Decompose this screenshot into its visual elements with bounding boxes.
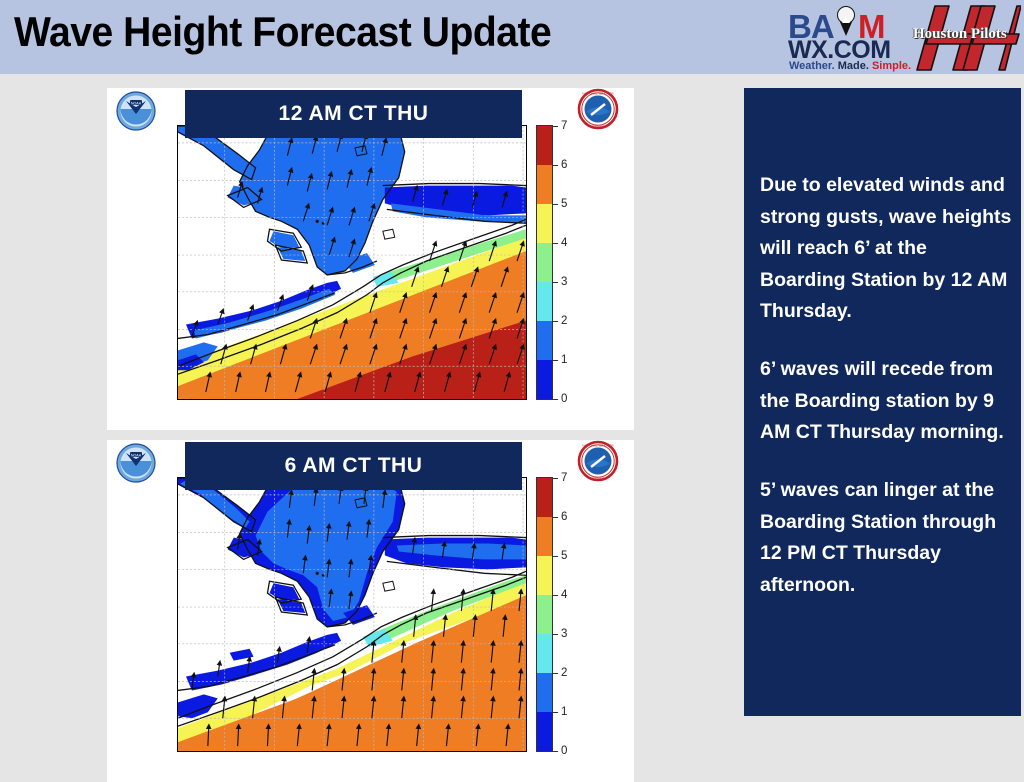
colorbar-tick-label: 0 — [561, 393, 567, 405]
forecast-note-paragraph-3: 5’ waves can linger at the Boarding Stat… — [760, 475, 1012, 601]
colorbar-band-6-7 — [537, 478, 552, 517]
colorbar-tick-label: 6 — [561, 159, 567, 171]
colorbar-band-4-5 — [537, 204, 552, 243]
wave-height-field-12am — [178, 126, 526, 399]
houston-pilots-label: Houston Pilots — [913, 26, 1007, 43]
colorbar-band-6-7 — [537, 126, 552, 165]
colorbar-tick-label: 3 — [561, 276, 567, 288]
forecast-note-paragraph-2: 6’ waves will recede from the Boarding s… — [760, 354, 1012, 449]
svg-text:NOAA: NOAA — [131, 453, 142, 457]
colorbar-tick-label: 7 — [561, 120, 567, 132]
colorbar-band-1-2 — [537, 321, 552, 360]
colorbar-tick-label: 2 — [561, 315, 567, 327]
colorbar-tick-label: 5 — [561, 550, 567, 562]
map-title-banner-12am: 12 AM CT THU — [185, 90, 522, 138]
map-axes-6am: 29.7°N 29.6°N 29.5°N 29.4°N 29.3°N 29.2°… — [177, 477, 527, 752]
svg-text:NATIONAL WEATHER: NATIONAL WEATHER — [582, 92, 614, 96]
baseball-icon — [833, 6, 859, 36]
colorbar-tick-label: 4 — [561, 589, 567, 601]
bamwx-wordmark-row: BA M — [786, 6, 911, 40]
wave-height-map-6am: NWP on NOAA NATIONAL WEATHER SERVICE 6 A… — [107, 440, 634, 782]
wave-height-map-12am: NWP on NOAA NATIONAL WEATHER SERVICE 12 … — [107, 88, 634, 430]
colorbar-band-5-6 — [537, 517, 552, 556]
bamwx-logo: BA M WX.COM Weather. Made. Simple. — [786, 6, 911, 72]
tagline-weather: Weather. — [789, 60, 835, 72]
colorbar-band-2-3 — [537, 634, 552, 673]
colorbar-band-2-3 — [537, 282, 552, 321]
forecast-note-paragraph-1: Due to elevated winds and strong gusts, … — [760, 170, 1012, 328]
forecast-notes-text: Due to elevated winds and strong gusts, … — [760, 170, 1012, 628]
colorbar-tick-label: 1 — [561, 354, 567, 366]
colorbar-6am: 7 6 5 4 3 2 1 0 — [536, 477, 553, 752]
page-header: Wave Height Forecast Update BA M WX.COM … — [0, 0, 1024, 74]
colorbar-tick-label: 7 — [561, 472, 567, 484]
colorbar-band-3-4 — [537, 595, 552, 634]
page-title: Wave Height Forecast Update — [14, 8, 551, 56]
colorbar-tick-label: 4 — [561, 237, 567, 249]
colorbar-band-3-4 — [537, 243, 552, 282]
colorbar-tick-label: 5 — [561, 198, 567, 210]
colorbar-band-0-1 — [537, 712, 552, 751]
colorbar-tick-label: 2 — [561, 667, 567, 679]
colorbar-band-5-6 — [537, 165, 552, 204]
colorbar-tick-label: 1 — [561, 706, 567, 718]
forecast-notes-panel: Due to elevated winds and strong gusts, … — [744, 88, 1021, 716]
noaa-logo-icon: NOAA — [115, 442, 157, 484]
colorbar-tick-label: 0 — [561, 745, 567, 757]
tagline-made: Made. — [838, 60, 869, 72]
map-title-banner-6am: 6 AM CT THU — [185, 442, 522, 490]
houston-pilots-logo: Houston Pilots — [905, 2, 1021, 74]
colorbar-band-4-5 — [537, 556, 552, 595]
nws-logo-icon: NATIONAL WEATHER SERVICE — [577, 440, 619, 482]
svg-text:SERVICE: SERVICE — [591, 124, 605, 128]
colorbar-band-0-1 — [537, 360, 552, 399]
colorbar-tick-label: 6 — [561, 511, 567, 523]
svg-text:NOAA: NOAA — [131, 101, 142, 105]
svg-text:SERVICE: SERVICE — [591, 476, 605, 480]
wave-height-field-6am — [178, 478, 526, 751]
colorbar-band-1-2 — [537, 673, 552, 712]
bamwx-tagline: Weather. Made. Simple. — [789, 60, 911, 72]
noaa-logo-icon: NOAA — [115, 90, 157, 132]
svg-text:NATIONAL WEATHER: NATIONAL WEATHER — [582, 444, 614, 448]
nws-logo-icon: NATIONAL WEATHER SERVICE — [577, 88, 619, 130]
colorbar-tick-label: 3 — [561, 628, 567, 640]
map-axes-12am: 29.7°N 29.6°N 29.5°N 29.4°N 29.3°N 29.2°… — [177, 125, 527, 400]
colorbar-12am: 7 6 5 4 3 2 1 0 — [536, 125, 553, 400]
